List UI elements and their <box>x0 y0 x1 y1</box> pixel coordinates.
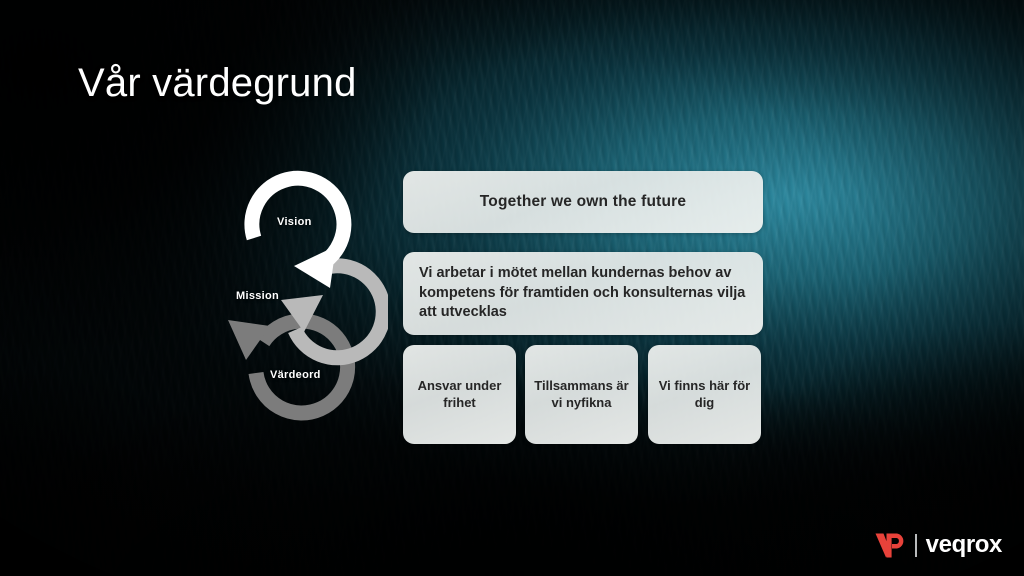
value-card-text: Vi finns här för dig <box>656 378 753 411</box>
vardeord-circle-arrow <box>228 320 348 413</box>
logo-divider <box>915 534 917 557</box>
slide-canvas: Vår värdegrund Vision Mission Värdeord T <box>0 0 1024 576</box>
wordmark-part-ve: ve <box>926 533 952 557</box>
mission-circle-arrow <box>281 266 383 358</box>
value-card: Tillsammans är vi nyfikna <box>525 345 638 444</box>
brand-logo: veprox <box>873 530 1002 560</box>
brand-wordmark: veprox <box>926 533 1002 557</box>
vision-statement-card: Together we own the future <box>403 171 763 233</box>
diagram-label-vardeord: Värdeord <box>270 369 321 381</box>
veprox-vp-monogram-icon <box>873 530 906 560</box>
values-flow-diagram: Vision Mission Värdeord <box>218 160 388 440</box>
value-card: Ansvar under frihet <box>403 345 516 444</box>
wordmark-part-p-flipped: p <box>952 533 966 557</box>
page-title: Vår värdegrund <box>78 60 357 106</box>
diagram-label-mission: Mission <box>236 290 279 302</box>
value-card-text: Ansvar under frihet <box>411 378 508 411</box>
mission-statement-text: Vi arbetar i mötet mellan kundernas beho… <box>419 264 747 322</box>
vision-statement-text: Together we own the future <box>480 193 686 211</box>
diagram-label-vision: Vision <box>277 216 312 228</box>
vision-circle-arrow <box>252 178 344 288</box>
value-card: Vi finns här för dig <box>648 345 761 444</box>
value-card-text: Tillsammans är vi nyfikna <box>533 378 630 411</box>
mission-statement-card: Vi arbetar i mötet mellan kundernas beho… <box>403 252 763 335</box>
wordmark-part-rox: rox <box>966 533 1002 557</box>
